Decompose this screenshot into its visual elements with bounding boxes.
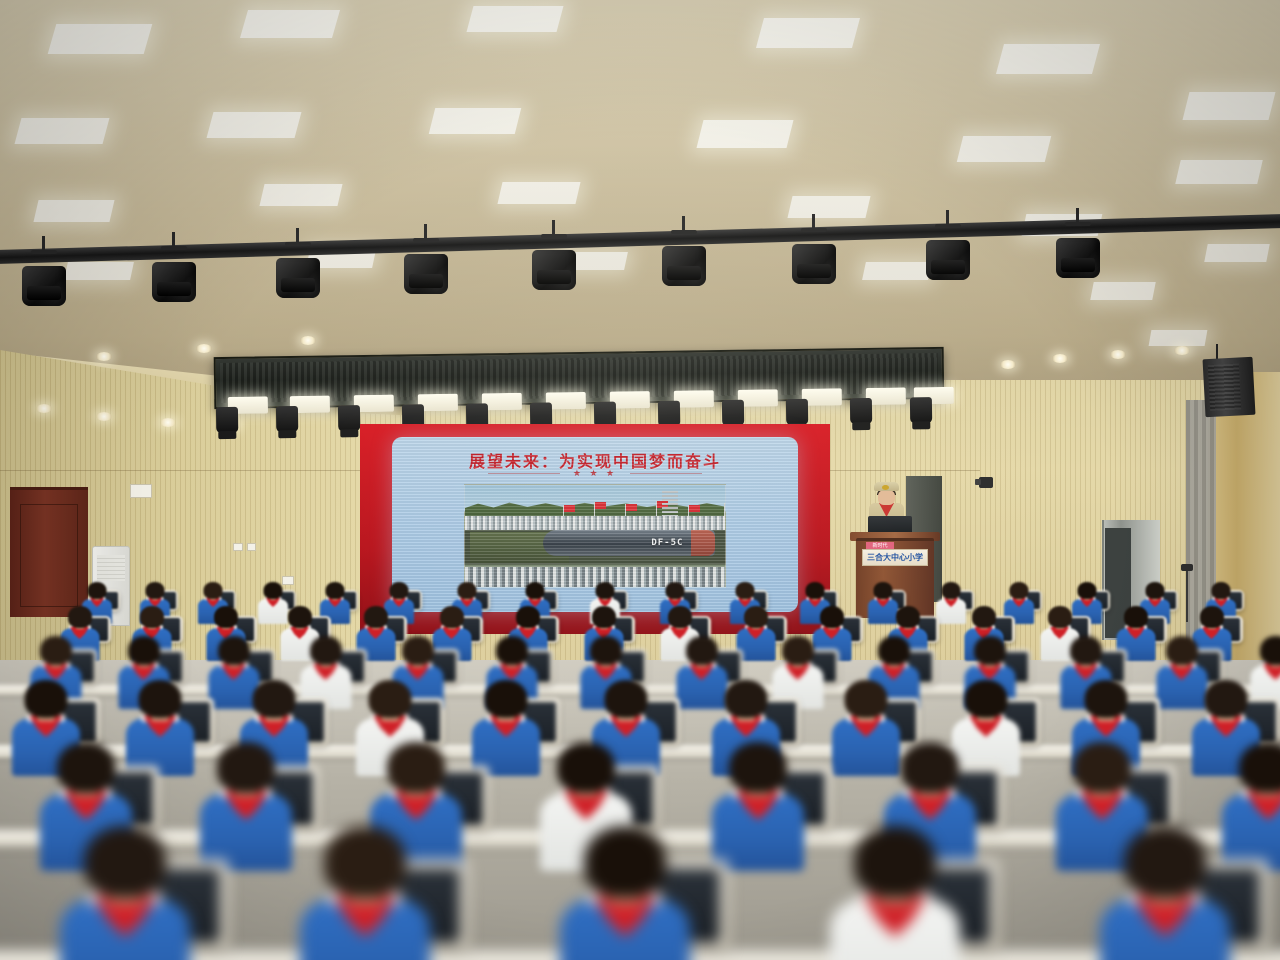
student-head bbox=[264, 582, 283, 599]
student-head bbox=[592, 606, 616, 628]
truss-moving-head-light bbox=[216, 407, 238, 433]
student-head bbox=[965, 680, 1008, 718]
student-head bbox=[214, 606, 238, 628]
downlight bbox=[300, 336, 316, 345]
presenter-cap bbox=[874, 482, 899, 491]
student-head bbox=[1146, 582, 1165, 599]
student-head bbox=[974, 636, 1006, 665]
student-head bbox=[496, 636, 528, 665]
student-head bbox=[288, 606, 312, 628]
spotlight-lens bbox=[281, 278, 315, 292]
spotlight-lens bbox=[797, 264, 831, 278]
downlight bbox=[96, 412, 112, 421]
photo-missile bbox=[543, 530, 715, 557]
stage-spotlight bbox=[404, 238, 448, 294]
student-head bbox=[88, 582, 107, 599]
student bbox=[60, 826, 190, 960]
presenter-head bbox=[878, 490, 895, 505]
student bbox=[712, 742, 804, 875]
student-head bbox=[326, 582, 345, 599]
spotlight-yoke bbox=[42, 236, 45, 254]
student-head bbox=[402, 636, 434, 665]
student-head bbox=[253, 680, 296, 718]
student-head bbox=[854, 826, 936, 898]
student-head bbox=[364, 606, 388, 628]
spotlight-lens bbox=[931, 260, 965, 274]
student-head bbox=[387, 742, 445, 793]
student-head bbox=[217, 742, 275, 793]
student-head bbox=[782, 636, 814, 665]
photo-flag bbox=[689, 505, 700, 512]
student-head bbox=[1085, 680, 1128, 718]
student-head bbox=[1010, 582, 1029, 599]
downlight bbox=[1110, 350, 1126, 359]
spotlight-yoke bbox=[1076, 208, 1079, 226]
auditorium-scene: 展望未来：为实现中国梦而奋斗 ★ ★ ★ DF-5C 新时代 三合大 bbox=[0, 0, 1280, 960]
student-head bbox=[590, 636, 622, 665]
downlight bbox=[1052, 354, 1068, 363]
photo-flag bbox=[725, 503, 726, 510]
student bbox=[936, 582, 966, 625]
student-head bbox=[40, 636, 72, 665]
wall-switch-plate[interactable] bbox=[233, 543, 243, 551]
stage-spotlight bbox=[662, 230, 706, 286]
spotlight-yoke bbox=[424, 224, 427, 242]
photo-missile-label: DF-5C bbox=[651, 538, 683, 548]
student-head bbox=[1048, 606, 1072, 628]
student-head bbox=[820, 606, 844, 628]
stage-spotlight bbox=[1056, 222, 1100, 278]
student-head bbox=[516, 606, 540, 628]
spotlight-lens bbox=[409, 274, 443, 288]
spotlight-yoke bbox=[552, 220, 555, 238]
student bbox=[300, 826, 430, 960]
photo-flag bbox=[564, 505, 575, 512]
student bbox=[126, 680, 194, 778]
student bbox=[1100, 826, 1230, 960]
photo-tower bbox=[662, 491, 678, 517]
podium-school-name: 三合大中心小学 bbox=[862, 549, 928, 566]
stage-spotlight bbox=[152, 246, 196, 302]
truss-moving-head-light bbox=[276, 406, 298, 432]
student-head bbox=[584, 826, 666, 898]
student-head bbox=[725, 680, 768, 718]
student-head bbox=[896, 606, 920, 628]
student-head bbox=[204, 582, 223, 599]
student-head bbox=[1166, 636, 1198, 665]
student-head bbox=[146, 582, 165, 599]
slide-photo: DF-5C bbox=[464, 484, 726, 588]
microphone-stand[interactable] bbox=[1186, 570, 1188, 622]
spotlight-lens bbox=[27, 286, 61, 300]
student bbox=[200, 742, 292, 875]
truss-moving-head-light bbox=[338, 405, 360, 431]
spotlight-lens bbox=[157, 282, 191, 296]
student-head bbox=[1260, 636, 1280, 665]
student-head bbox=[140, 606, 164, 628]
student-head bbox=[744, 606, 768, 628]
student-head bbox=[1124, 826, 1206, 898]
student-head bbox=[324, 826, 406, 898]
student bbox=[560, 826, 690, 960]
student-head bbox=[942, 582, 961, 599]
student-head bbox=[736, 582, 755, 599]
spotlight-yoke bbox=[946, 210, 949, 228]
student-head bbox=[729, 742, 787, 793]
student-head bbox=[68, 606, 92, 628]
spotlight-yoke bbox=[682, 216, 685, 234]
spotlight-yoke bbox=[172, 232, 175, 250]
loudspeaker bbox=[1203, 357, 1256, 418]
student-head bbox=[1200, 606, 1224, 628]
student-head bbox=[668, 606, 692, 628]
student-head bbox=[666, 582, 685, 599]
student-head bbox=[845, 680, 888, 718]
student-head bbox=[458, 582, 477, 599]
student-head bbox=[874, 582, 893, 599]
student-head bbox=[84, 826, 166, 898]
stage-spotlight bbox=[792, 228, 836, 284]
student-head bbox=[686, 636, 718, 665]
student-head bbox=[901, 742, 959, 793]
downlight bbox=[36, 404, 52, 413]
photo-flag bbox=[626, 504, 637, 511]
student-head bbox=[128, 636, 160, 665]
student bbox=[472, 680, 540, 778]
stage-spotlight bbox=[22, 250, 66, 306]
student-head bbox=[557, 742, 615, 793]
downlight bbox=[1174, 346, 1190, 355]
student-head bbox=[57, 742, 115, 793]
student-head bbox=[1073, 742, 1131, 793]
student-head bbox=[972, 606, 996, 628]
student-head bbox=[25, 680, 68, 718]
student-head bbox=[390, 582, 409, 599]
student-head bbox=[1124, 606, 1148, 628]
stage-spotlight bbox=[276, 242, 320, 298]
student-head bbox=[605, 680, 648, 718]
student-head bbox=[878, 636, 910, 665]
truss-moving-head-light bbox=[850, 398, 872, 424]
student-head bbox=[1239, 742, 1280, 793]
student-head bbox=[1205, 680, 1248, 718]
photo-flag bbox=[595, 502, 606, 509]
spotlight-lens bbox=[1061, 258, 1095, 272]
student-head bbox=[139, 680, 182, 718]
student-head bbox=[596, 582, 615, 599]
student-head bbox=[806, 582, 825, 599]
stage-spotlight bbox=[532, 234, 576, 290]
student-head bbox=[440, 606, 464, 628]
slide-stars: ★ ★ ★ bbox=[392, 468, 798, 479]
student-head bbox=[1070, 636, 1102, 665]
student bbox=[830, 826, 960, 960]
security-camera-icon bbox=[979, 477, 993, 488]
downlight bbox=[96, 352, 112, 361]
truss-moving-head-light bbox=[722, 400, 744, 426]
photo-missile-nose bbox=[691, 530, 715, 557]
student-head bbox=[526, 582, 545, 599]
left-door[interactable] bbox=[10, 487, 88, 617]
student-head bbox=[369, 680, 412, 718]
spotlight-lens bbox=[537, 270, 571, 284]
spotlight-lens bbox=[667, 266, 701, 280]
spotlight-yoke bbox=[296, 228, 299, 246]
downlight bbox=[1000, 360, 1016, 369]
downlight bbox=[196, 344, 212, 353]
wall-outlet-plate[interactable] bbox=[247, 543, 256, 551]
downlight bbox=[160, 418, 176, 427]
student-head bbox=[1078, 582, 1097, 599]
stage-spotlight bbox=[926, 224, 970, 280]
truss-moving-head-light bbox=[910, 397, 932, 423]
photo-crowd-stands bbox=[465, 516, 725, 530]
student-head bbox=[218, 636, 250, 665]
wall-control-box[interactable] bbox=[130, 484, 152, 498]
student bbox=[1222, 742, 1280, 875]
student-head bbox=[310, 636, 342, 665]
truss-moving-head-light bbox=[786, 399, 808, 425]
spotlight-yoke bbox=[812, 214, 815, 232]
student-head bbox=[485, 680, 528, 718]
student-head bbox=[1212, 582, 1231, 599]
